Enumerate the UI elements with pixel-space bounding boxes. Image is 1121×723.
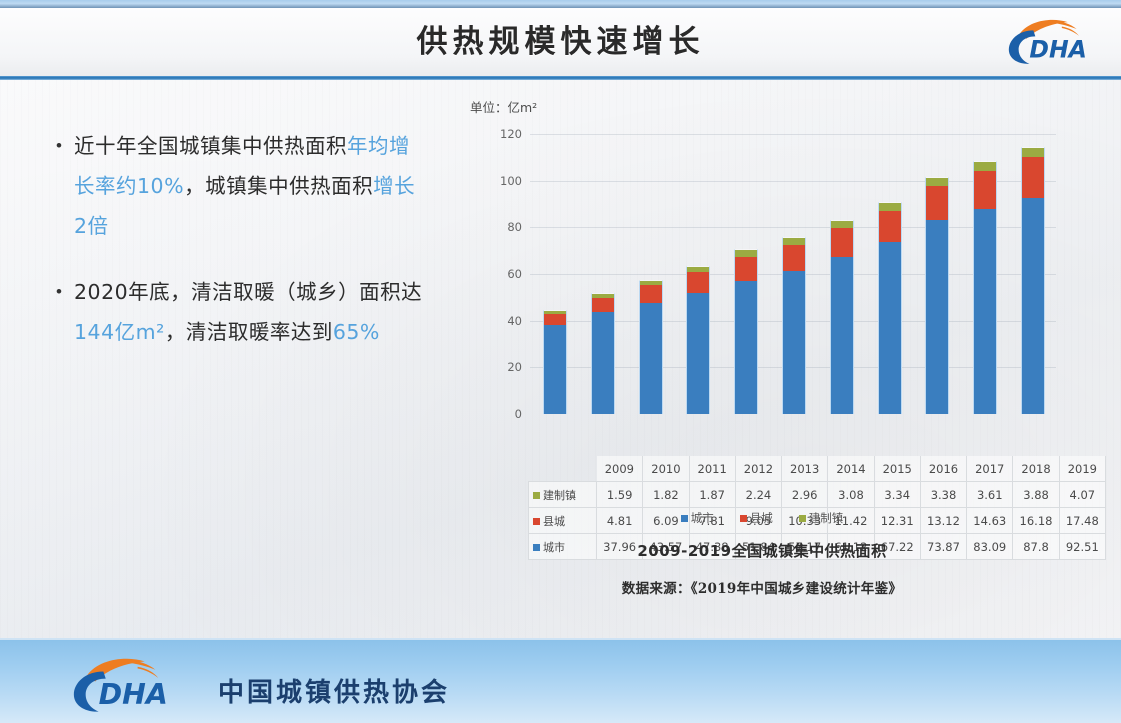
page-title: 供热规模快速增长: [0, 16, 1121, 61]
table-cell: 3.38: [920, 482, 966, 508]
bar-2009: [543, 310, 567, 415]
table-header-cell: 2018: [1013, 456, 1059, 482]
y-axis-tick-label: 40: [490, 314, 522, 328]
table-cell: 2.24: [735, 482, 781, 508]
bar-segment-城市: [1022, 198, 1044, 414]
y-axis-tick-label: 100: [490, 174, 522, 188]
table-row-label: 建制镇: [529, 482, 597, 508]
bar-segment-城市: [544, 325, 566, 414]
bar-segment-建制镇: [1022, 148, 1044, 157]
bullet-list: • 近十年全国城镇集中供热面积年均增长率约10%，城镇集中供热面积增长2倍 • …: [56, 126, 426, 378]
table-cell: 3.08: [828, 482, 874, 508]
table-header-cell: 2014: [828, 456, 874, 482]
table-cell: 3.34: [874, 482, 920, 508]
table-cell: 1.82: [643, 482, 689, 508]
list-item: • 近十年全国城镇集中供热面积年均增长率约10%，城镇集中供热面积增长2倍: [56, 126, 426, 246]
bar-segment-建制镇: [831, 221, 853, 229]
bullet-part-highlight: 65%: [333, 320, 380, 344]
cdha-logo-footer-icon: DHA: [52, 652, 202, 714]
table-cell: 1.59: [597, 482, 643, 508]
footer-org-name: 中国城镇供热协会: [218, 672, 450, 709]
y-axis-tick-label: 80: [490, 220, 522, 234]
legend-item-城市: 城市: [681, 511, 714, 525]
y-axis-tick-label: 120: [490, 127, 522, 141]
bar-segment-建制镇: [879, 203, 901, 211]
bullet-marker: •: [56, 126, 74, 246]
legend-swatch-icon: [533, 492, 540, 499]
bar-segment-建制镇: [783, 238, 805, 245]
bullet-part-highlight: 144亿m²: [74, 320, 165, 344]
bar-segment-城市: [735, 281, 757, 414]
bar-segment-城市: [831, 257, 853, 414]
bar-segment-建制镇: [735, 250, 757, 257]
bar-segment-县城: [783, 245, 805, 272]
bar-2012: [686, 266, 710, 414]
table-cell: 3.88: [1013, 482, 1059, 508]
chart-bars: [530, 134, 1056, 414]
top-accent-strip: [0, 0, 1121, 8]
bar-segment-县城: [831, 228, 853, 257]
bar-2015: [830, 220, 854, 414]
bar-segment-县城: [735, 257, 757, 281]
table-header-cell: 2017: [967, 456, 1013, 482]
bar-segment-县城: [544, 314, 566, 325]
legend-swatch-icon: [681, 515, 688, 522]
y-axis: 020406080100120: [490, 134, 526, 414]
table-cell: 3.61: [967, 482, 1013, 508]
chart-container: 单位：亿m² 020406080100120 20092010201120122…: [452, 92, 1072, 622]
bar-segment-县城: [926, 186, 948, 220]
slide-root: 供热规模快速增长 DHA • 近十年全国城镇集中供热面积年均增长率约10%，城镇…: [0, 0, 1121, 723]
bar-2010: [591, 293, 615, 414]
chart-source-note: 数据来源：《2019年中国城乡建设统计年鉴》: [452, 577, 1072, 597]
legend-swatch-icon: [740, 515, 747, 522]
bar-segment-城市: [592, 312, 614, 414]
bar-segment-城市: [640, 303, 662, 414]
bar-segment-城市: [926, 220, 948, 414]
bar-segment-城市: [687, 293, 709, 414]
table-header-cell: 2013: [782, 456, 828, 482]
chart-legend: 城市县城建制镇: [452, 510, 1072, 526]
table-header-cell: 2009: [597, 456, 643, 482]
bullet-text-2: 2020年底，清洁取暖（城乡）面积达 144亿m²，清洁取暖率达到65%: [74, 272, 426, 352]
bar-segment-县城: [974, 171, 996, 209]
cdha-logo-header-icon: DHA: [999, 14, 1107, 66]
table-header-cell: 2012: [735, 456, 781, 482]
y-axis-tick-label: 60: [490, 267, 522, 281]
chart-unit-label: 单位：亿m²: [470, 97, 537, 116]
y-axis-tick-label: 20: [490, 360, 522, 374]
bar-2013: [734, 249, 758, 414]
legend-item-建制镇: 建制镇: [799, 511, 844, 525]
bar-segment-县城: [879, 211, 901, 242]
table-header-cell: 2016: [920, 456, 966, 482]
table-header-cell: 2019: [1059, 456, 1105, 482]
bar-segment-县城: [592, 298, 614, 312]
list-item: • 2020年底，清洁取暖（城乡）面积达 144亿m²，清洁取暖率达到65%: [56, 272, 426, 352]
bullet-part: 2020年底，清洁取暖（城乡）面积达: [74, 280, 422, 304]
bullet-marker: •: [56, 272, 74, 352]
table-cell: 4.07: [1059, 482, 1105, 508]
bar-segment-县城: [640, 285, 662, 303]
table-corner-cell: [529, 456, 597, 482]
bar-segment-城市: [879, 242, 901, 414]
bar-2016: [878, 202, 902, 414]
legend-item-县城: 县城: [740, 511, 773, 525]
table-cell: 2.96: [782, 482, 828, 508]
bar-segment-县城: [687, 272, 709, 293]
bar-2017: [925, 177, 949, 414]
bar-segment-建制镇: [926, 178, 948, 186]
bar-segment-建制镇: [974, 162, 996, 171]
y-axis-tick-label: 0: [490, 407, 522, 421]
table-row: 建制镇1.591.821.872.242.963.083.343.383.613…: [529, 482, 1106, 508]
bar-2018: [973, 161, 997, 414]
bar-2011: [639, 280, 663, 414]
svg-text:DHA: DHA: [1029, 35, 1086, 63]
table-cell: 1.87: [689, 482, 735, 508]
legend-swatch-icon: [799, 515, 806, 522]
bar-segment-县城: [1022, 157, 1044, 198]
bar-2019: [1021, 147, 1045, 414]
chart-plot-area: 020406080100120 200920102011201220132014…: [490, 134, 1062, 512]
bar-segment-城市: [974, 209, 996, 414]
table-header-cell: 2010: [643, 456, 689, 482]
chart-caption: 2009-2019全国城镇集中供热面积: [452, 540, 1072, 561]
bullet-part: 近十年全国城镇集中供热面积: [74, 134, 347, 158]
bullet-text-1: 近十年全国城镇集中供热面积年均增长率约10%，城镇集中供热面积增长2倍: [74, 126, 426, 246]
header-divider-rule: [0, 76, 1121, 80]
table-header-cell: 2011: [689, 456, 735, 482]
bullet-part: ，城镇集中供热面积: [184, 174, 373, 198]
bar-segment-城市: [783, 271, 805, 414]
bar-2014: [782, 237, 806, 414]
table-header-cell: 2015: [874, 456, 920, 482]
svg-text:DHA: DHA: [99, 678, 168, 711]
bullet-part: ，清洁取暖率达到: [165, 320, 333, 344]
